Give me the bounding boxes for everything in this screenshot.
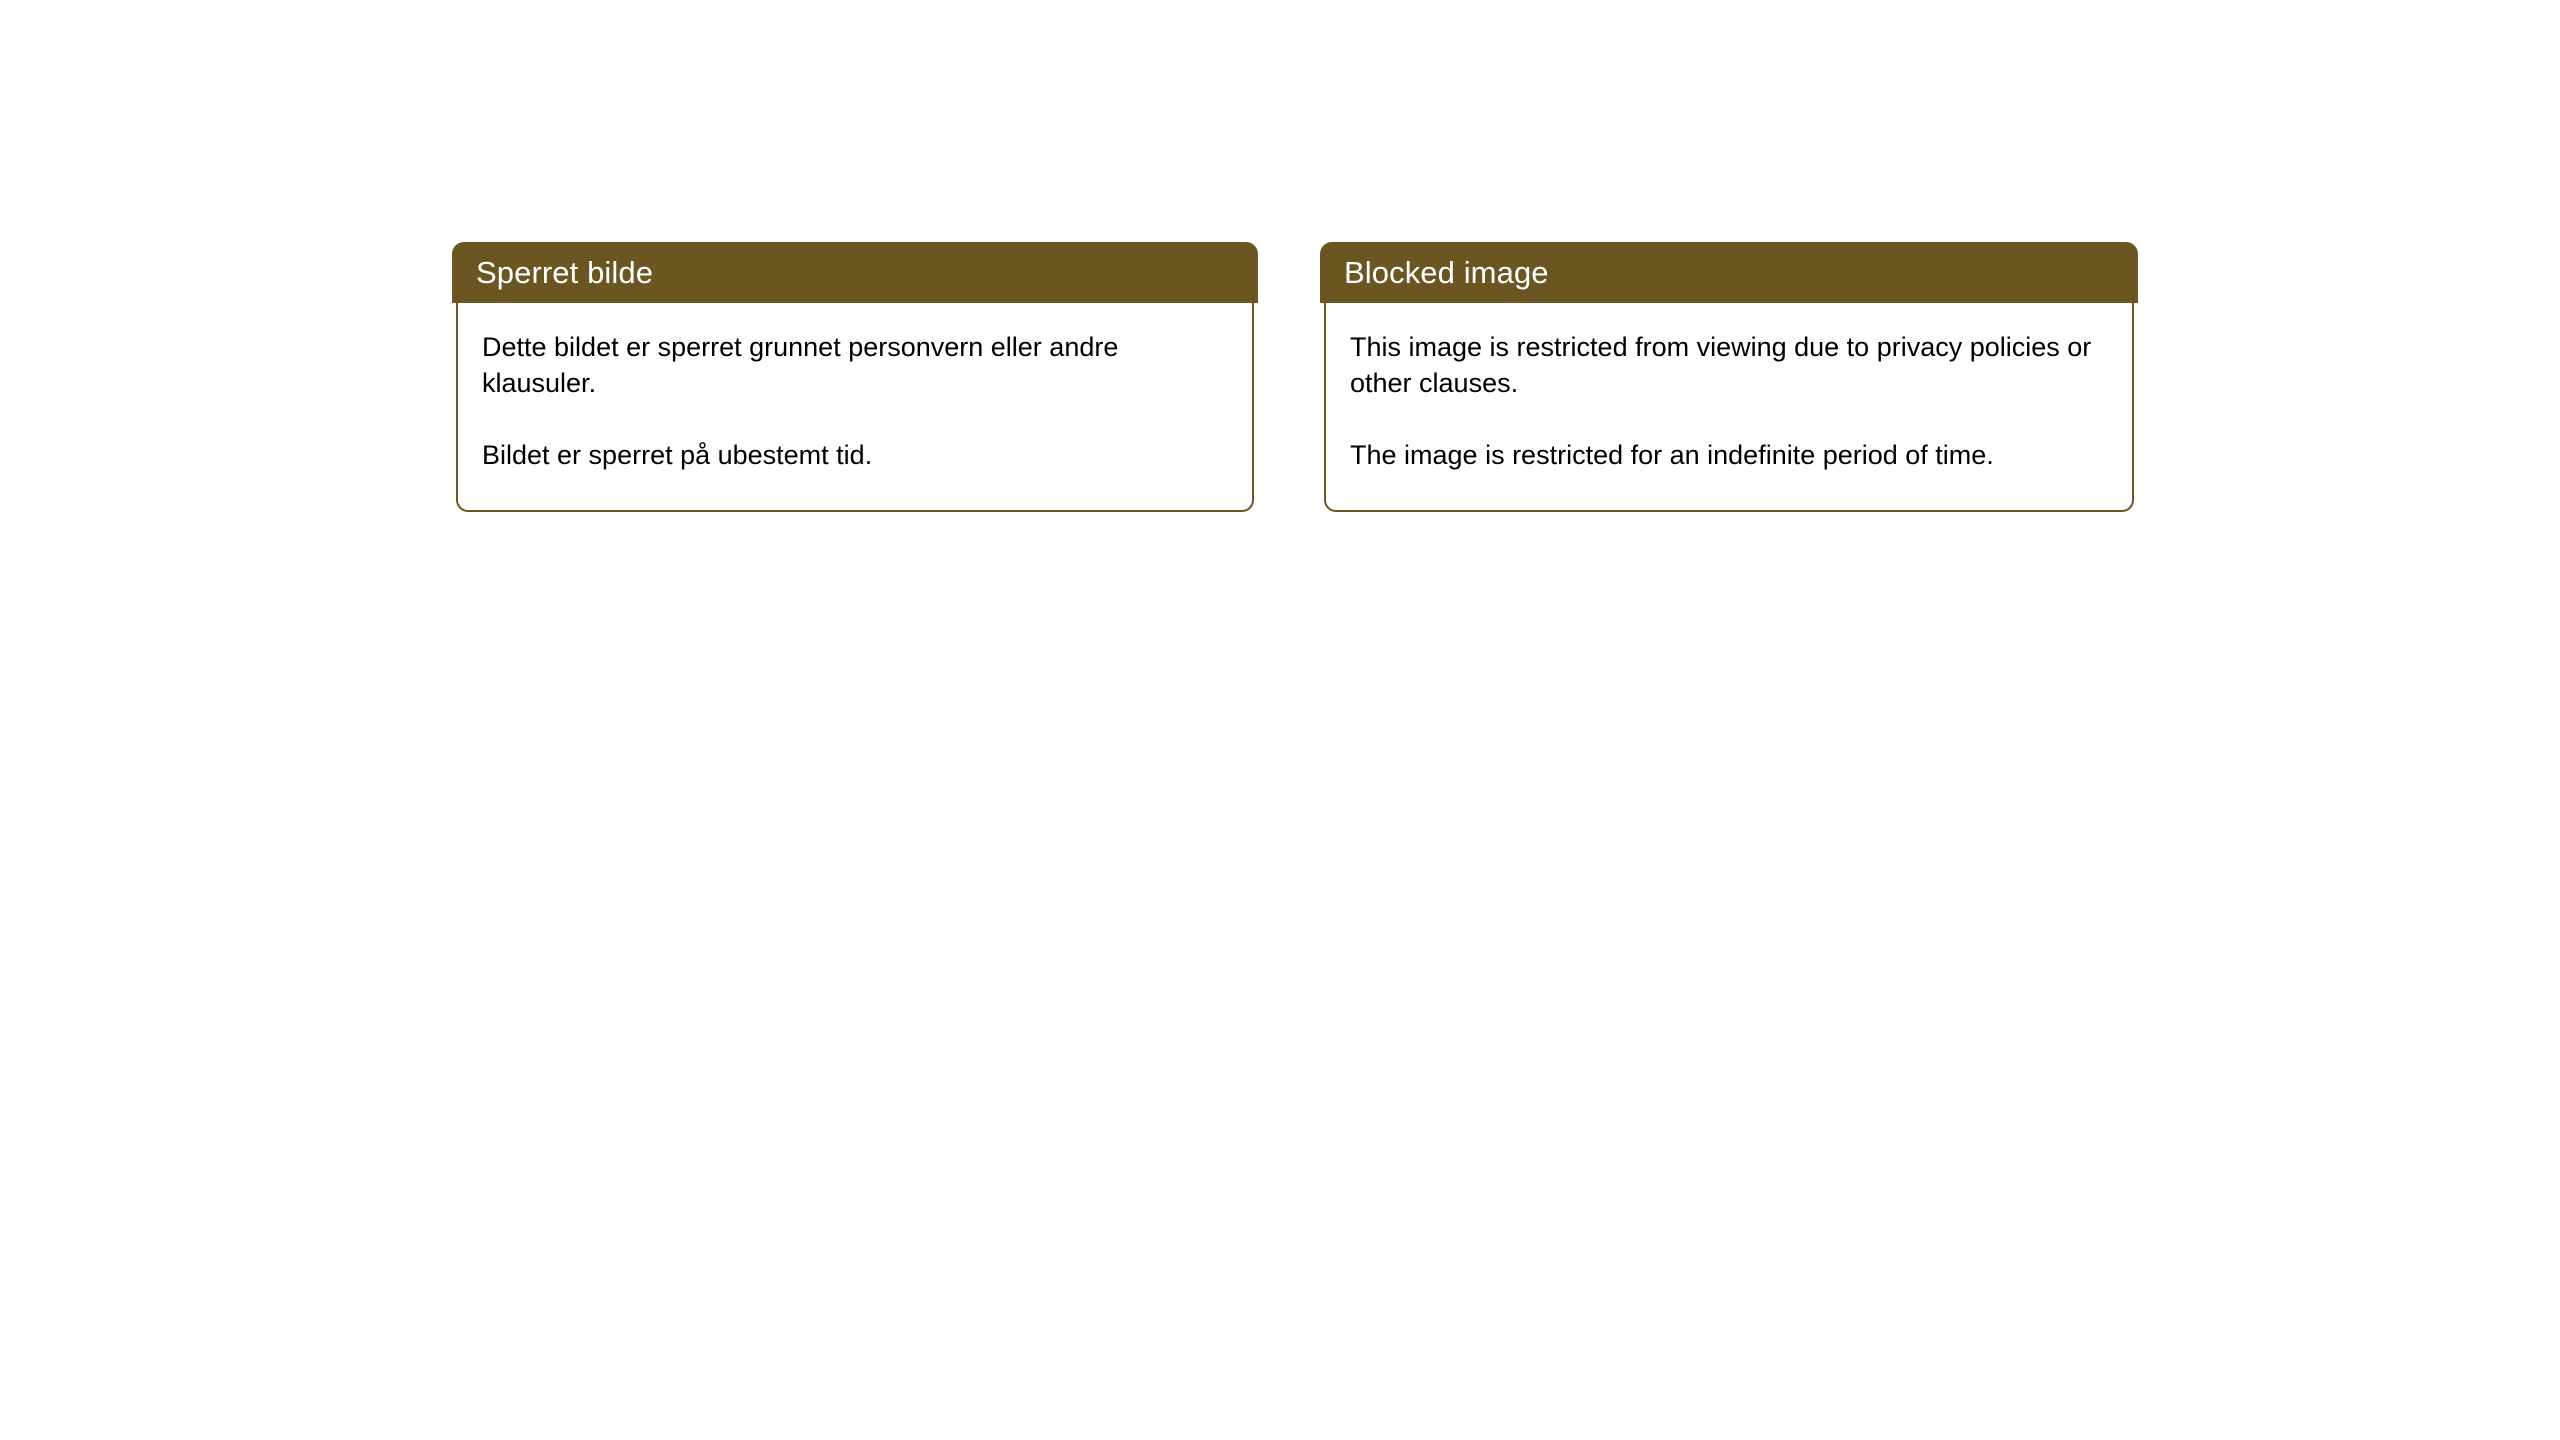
card-paragraph-reason-norwegian: Dette bildet er sperret grunnet personve… xyxy=(482,329,1228,401)
card-body-norwegian: Dette bildet er sperret grunnet personve… xyxy=(456,303,1254,512)
card-paragraph-duration-english: The image is restricted for an indefinit… xyxy=(1350,437,2108,473)
blocked-image-card-norwegian: Sperret bilde Dette bildet er sperret gr… xyxy=(452,242,1258,512)
card-paragraph-duration-norwegian: Bildet er sperret på ubestemt tid. xyxy=(482,437,1228,473)
card-title-english: Blocked image xyxy=(1344,257,1549,288)
card-body-english: This image is restricted from viewing du… xyxy=(1324,303,2134,512)
card-paragraph-reason-english: This image is restricted from viewing du… xyxy=(1350,329,2108,401)
blocked-image-card-english: Blocked image This image is restricted f… xyxy=(1320,242,2138,512)
blocked-image-notice-group: Sperret bilde Dette bildet er sperret gr… xyxy=(452,242,2138,512)
card-header-norwegian: Sperret bilde xyxy=(452,242,1258,303)
card-title-norwegian: Sperret bilde xyxy=(476,257,653,288)
card-header-english: Blocked image xyxy=(1320,242,2138,303)
